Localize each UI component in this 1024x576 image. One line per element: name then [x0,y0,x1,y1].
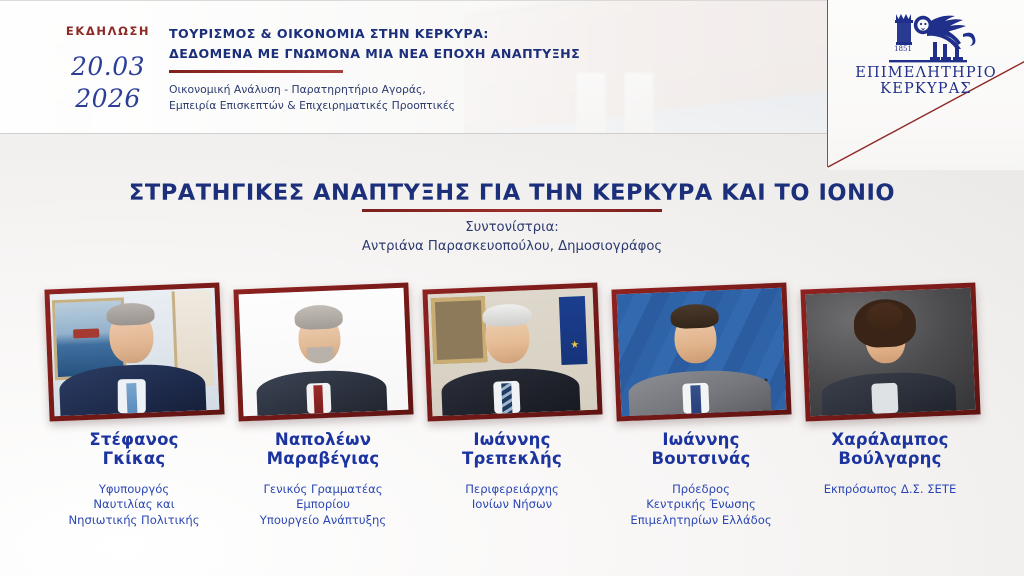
portrait-tie [313,385,323,413]
speaker-name-line-1: Ναπολέων [267,430,380,449]
speaker-card: Στέφανος Γκίκας Υφυπουργός Ναυτιλίας και… [40,286,229,528]
speaker-photo-wrap [614,286,789,418]
portrait-tie [690,385,701,413]
moderator-label: Συντονίστρια: [0,218,1024,237]
speaker-role-line-1: Περιφερειάρχης [465,482,559,497]
moderator-name: Αντριάνα Παρασκευοπούλου, Δημοσιογράφος [0,237,1024,256]
portrait-napoleon-maravegias [238,288,408,417]
speaker-role-line-1: Γενικός Γραμματέας [260,482,386,497]
speaker-role-line-2: Εμπορίου [260,497,386,512]
speaker-role: Πρόεδρος Κεντρικής Ένωσης Επιμελητηρίων … [630,482,771,528]
photo-frame [233,283,413,422]
speaker-role-line-2: Κεντρικής Ένωσης [630,497,771,512]
panel-title-divider [362,209,662,212]
speaker-name-line-2: Γκίκας [89,449,178,468]
presentation-slide: 1851 ΕΠΙΜΕΛΗΤΗΡΙΟ ΚΕΡΚΥΡΑΣ ΕΚΔΗΛΩΣΗ 20.0… [0,0,1024,576]
event-date-day-month: 20.03 [52,51,164,83]
speaker-name-line-1: Στέφανος [89,430,178,449]
event-title-line-2: ΔΕΔΟΜΕΝΑ ΜΕ ΓΝΩΜΟΝΑ ΜΙΑ ΝΕΑ ΕΠΟΧΗ ΑΝΑΠΤΥ… [169,44,789,64]
speaker-photo-wrap [803,286,978,418]
speaker-card: Χαράλαμπος Βούλγαρης Εκπρόσωπος Δ.Σ. ΣΕΤ… [796,286,985,497]
speaker-name: Ιωάννης Βουτσινάς [651,430,750,469]
speaker-name-line-2: Βουτσινάς [651,449,750,468]
speaker-role-line-1: Πρόεδρος [630,482,771,497]
speaker-name-line-2: Μαραβέγιας [267,449,380,468]
speaker-photo-wrap [425,286,600,418]
speaker-role-line-3: Υπουργείο Ανάπτυξης [260,513,386,528]
panel-title: ΣΤΡΑΤΗΓΙΚΕΣ ΑΝΑΠΤΥΞΗΣ ΓΙΑ ΤΗΝ ΚΕΡΚΥΡΑ ΚΑ… [0,180,1024,206]
event-date-block: ΕΚΔΗΛΩΣΗ 20.03 2026 [52,24,164,115]
speaker-role-line-1: Υφυπουργός [68,482,199,497]
speaker-role: Γενικός Γραμματέας Εμπορίου Υπουργείο Αν… [260,482,386,528]
speaker-name: Χαράλαμπος Βούλγαρης [831,430,948,469]
framed-picture [430,296,487,364]
event-subtitle-line-2: Εμπειρία Επισκεπτών & Επιχειρηματικές Πρ… [169,98,789,114]
moderator-block: Συντονίστρια: Αντριάνα Παρασκευοπούλου, … [0,218,1024,256]
logo-line-1: ΕΠΙΜΕΛΗΤΗΡΙΟ [855,65,997,81]
speaker-role-line-3: Επιμελητηρίων Ελλάδος [630,513,771,528]
portrait-tie [501,383,512,413]
portrait-ioannis-trepeklis [427,288,597,417]
portrait-hair [670,303,719,329]
portrait-stefanos-gkikas [49,288,219,417]
header-divider [169,70,343,73]
speaker-card: Ιωάννης Βουτσινάς Πρόεδρος Κεντρικής Ένω… [607,286,796,528]
speaker-role-line-3: Νησιωτικής Πολιτικής [68,513,199,528]
speaker-role-line-2: Ιονίων Νήσων [465,497,559,512]
portrait-hair [294,304,343,330]
portrait-shirt [871,383,898,414]
speaker-photo-wrap [47,286,222,418]
event-subtitle: Οικονομική Ανάλυση - Παρατηρητήριο Αγορά… [169,82,789,114]
logo-wordmark: ΕΠΙΜΕΛΗΤΗΡΙΟ ΚΕΡΚΥΡΑΣ [855,65,997,97]
portrait-hair [106,302,155,326]
speaker-role-line-1: Εκπρόσωπος Δ.Σ. ΣΕΤΕ [824,482,957,497]
logo-line-2: ΚΕΡΚΥΡΑΣ [855,81,997,97]
speaker-role: Εκπρόσωπος Δ.Σ. ΣΕΤΕ [824,482,957,497]
speaker-name: Στέφανος Γκίκας [89,430,178,469]
photo-frame [44,283,224,422]
speaker-card: Ναπολέων Μαραβέγιας Γενικός Γραμματέας Ε… [229,286,418,528]
photo-frame [800,283,980,422]
speaker-list: Στέφανος Γκίκας Υφυπουργός Ναυτιλίας και… [0,286,1024,556]
portrait-ioannis-voutsinas [616,288,786,417]
speaker-name-line-1: Ιωάννης [462,430,562,449]
winged-lion-icon: 1851 [867,8,985,64]
event-date-year: 2026 [52,83,164,115]
speaker-name-line-2: Τρεπεκλής [462,449,562,468]
event-label: ΕΚΔΗΛΩΣΗ [52,24,164,38]
speaker-photo-wrap [236,286,411,418]
portrait-hair [482,303,532,327]
portrait-hair [852,298,916,348]
speaker-name: Ιωάννης Τρεπεκλής [462,430,562,469]
speaker-name-line-1: Χαράλαμπος [831,430,948,449]
header-text-block: ΤΟΥΡΙΣΜΟΣ & ΟΙΚΟΝΟΜΙΑ ΣΤΗΝ ΚΕΡΚΥΡΑ: ΔΕΔΟ… [169,24,789,114]
speaker-name-line-1: Ιωάννης [651,430,750,449]
speaker-name-line-2: Βούλγαρης [831,449,948,468]
photo-frame [611,283,791,422]
event-title: ΤΟΥΡΙΣΜΟΣ & ΟΙΚΟΝΟΜΙΑ ΣΤΗΝ ΚΕΡΚΥΡΑ: ΔΕΔΟ… [169,24,789,63]
photo-frame [422,283,602,422]
portrait-charalampos-voulgaris [805,288,975,417]
speaker-role: Υφυπουργός Ναυτιλίας και Νησιωτικής Πολι… [68,482,199,528]
vertical-accent-line [827,0,828,167]
speaker-role: Περιφερειάρχης Ιονίων Νήσων [465,482,559,513]
portrait-tie [126,383,137,413]
event-title-line-1: ΤΟΥΡΙΣΜΟΣ & ΟΙΚΟΝΟΜΙΑ ΣΤΗΝ ΚΕΡΚΥΡΑ: [169,24,789,44]
event-subtitle-line-1: Οικονομική Ανάλυση - Παρατηρητήριο Αγορά… [169,82,789,98]
chamber-logo: 1851 ΕΠΙΜΕΛΗΤΗΡΙΟ ΚΕΡΚΥΡΑΣ [832,8,1020,116]
speaker-card: Ιωάννης Τρεπεκλής Περιφερειάρχης Ιονίων … [418,286,607,513]
speaker-name: Ναπολέων Μαραβέγιας [267,430,380,469]
logo-year: 1851 [894,45,912,53]
event-date: 20.03 2026 [52,51,164,115]
eu-flag [558,296,587,365]
speaker-role-line-2: Ναυτιλίας και [68,497,199,512]
painted-ship [73,328,99,338]
